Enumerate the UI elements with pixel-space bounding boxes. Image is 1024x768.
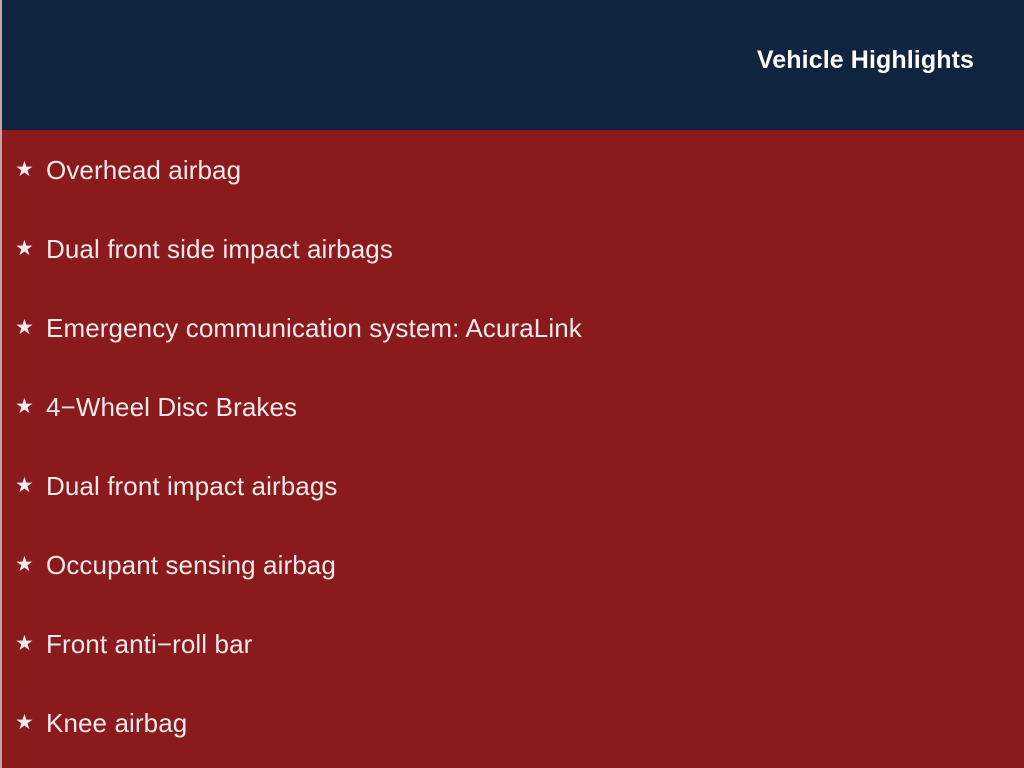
list-item: ★Dual front side impact airbags <box>2 209 1024 288</box>
header-band: Vehicle Highlights <box>2 0 1024 130</box>
star-icon: ★ <box>15 315 32 341</box>
highlight-label: Dual front impact airbags <box>46 471 338 501</box>
list-item: ★Dual front impact airbags <box>2 446 1024 525</box>
highlight-label: Knee airbag <box>46 708 187 738</box>
star-icon: ★ <box>15 552 32 578</box>
highlight-label: Front anti−roll bar <box>46 629 252 659</box>
list-item: ★Front anti−roll bar <box>2 604 1024 683</box>
highlight-label: Overhead airbag <box>46 155 241 185</box>
list-item: ★Emergency communication system: AcuraLi… <box>2 288 1024 367</box>
list-item: ★Occupant sensing airbag <box>2 525 1024 604</box>
vehicle-highlights-list: ★Overhead airbag★Dual front side impact … <box>2 130 1024 768</box>
list-item: ★Overhead airbag <box>2 130 1024 209</box>
star-icon: ★ <box>15 473 32 499</box>
list-item: ★Knee airbag <box>2 683 1024 762</box>
highlight-label: 4−Wheel Disc Brakes <box>46 392 297 422</box>
page-title: Vehicle Highlights <box>757 46 974 75</box>
star-icon: ★ <box>15 394 32 420</box>
star-icon: ★ <box>15 710 32 736</box>
highlight-label: Occupant sensing airbag <box>46 550 336 580</box>
star-icon: ★ <box>15 157 32 183</box>
highlight-label: Dual front side impact airbags <box>46 234 393 264</box>
highlight-label: Emergency communication system: AcuraLin… <box>46 313 582 343</box>
vehicle-highlights-slide: Vehicle Highlights ★Overhead airbag★Dual… <box>0 0 1024 768</box>
list-item: ★4−Wheel Disc Brakes <box>2 367 1024 446</box>
star-icon: ★ <box>15 631 32 657</box>
star-icon: ★ <box>15 236 32 262</box>
